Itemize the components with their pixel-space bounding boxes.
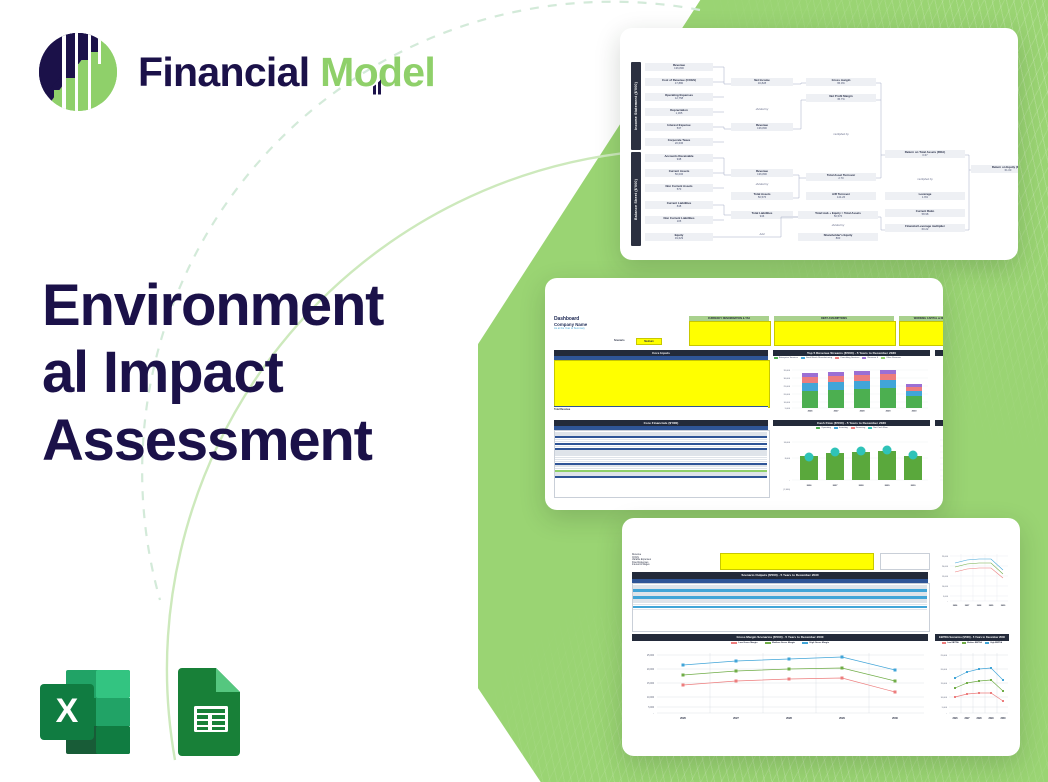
scenario-input-labels: Revenue COGS Variable Expenses Fixed Exp… bbox=[632, 554, 720, 567]
screenshot-scenario-analysis[interactable]: Revenue COGS Variable Expenses Fixed Exp… bbox=[622, 518, 1020, 756]
svg-text:2027: 2027 bbox=[964, 718, 970, 720]
legend-ebitda-scenarios: Low EBITDA Medium EBITDA High EBITDA bbox=[935, 642, 1009, 644]
legend-payback: Payback year Cumulative Cash Generated (… bbox=[937, 427, 943, 429]
svg-text:2028: 2028 bbox=[859, 485, 865, 487]
svg-text:2028: 2028 bbox=[977, 605, 982, 607]
svg-text:2030: 2030 bbox=[1000, 718, 1006, 720]
chart-scenario-top-right[interactable]: 25,00020,00015,000 10,0005,000- bbox=[937, 550, 1010, 608]
svg-text:2027: 2027 bbox=[733, 716, 739, 720]
page-title-line-2: al Impact bbox=[42, 339, 442, 406]
legend-profitability: Revenue EBITDA EBITDA % bbox=[937, 357, 943, 359]
core-financials-rows bbox=[555, 432, 767, 478]
svg-text:2028: 2028 bbox=[976, 718, 982, 720]
brand-logo: Financial Model bbox=[36, 30, 435, 114]
svg-text:2026: 2026 bbox=[807, 485, 813, 487]
page-title-line-1: Environment bbox=[42, 272, 442, 339]
svg-text:30,000: 30,000 bbox=[784, 378, 791, 380]
svg-text:25,000: 25,000 bbox=[942, 556, 949, 558]
section-top-5-revenue-streams: Top 5 Revenue Streams ($'000) - 5 Years … bbox=[773, 350, 930, 356]
currency-assumptions-table[interactable] bbox=[689, 321, 771, 346]
svg-text:2029: 2029 bbox=[839, 716, 845, 720]
svg-text:2030: 2030 bbox=[892, 716, 898, 720]
svg-text:5,000: 5,000 bbox=[648, 707, 654, 709]
logo-o-bar-icon bbox=[372, 61, 384, 78]
page-title: Environment al Impact Assessment bbox=[42, 272, 442, 474]
legend-gross-margin-scenarios: Low Gross Margin Medium Gross Margin Hig… bbox=[632, 642, 928, 644]
svg-text:16,000: 16,000 bbox=[784, 442, 791, 444]
svg-text:-: - bbox=[789, 480, 790, 482]
scenario-sheet: Revenue COGS Variable Expenses Fixed Exp… bbox=[632, 546, 1011, 736]
svg-text:25,000: 25,000 bbox=[784, 386, 791, 388]
core-inputs-total-row: Total Revenue bbox=[554, 406, 768, 416]
dashboard-title: Dashboard Company Name As at the Year of… bbox=[554, 316, 587, 330]
svg-text:2028: 2028 bbox=[786, 716, 792, 720]
chart-profitability[interactable]: 202620272028 20292030 bbox=[936, 364, 943, 412]
svg-text:5,000: 5,000 bbox=[942, 707, 948, 709]
svg-text:-: - bbox=[947, 601, 948, 603]
section-profitability: Profitability ($'000) - 5 Years to Decem… bbox=[935, 350, 943, 356]
chart-top-5-revenue-streams[interactable]: 35,00030,000 25,00020,000 10,0005,000 bbox=[774, 366, 930, 412]
svg-text:2029: 2029 bbox=[988, 718, 994, 720]
ratio-tree: Income Statement ($'000) Balance Sheet (… bbox=[631, 60, 1010, 238]
chart-ebitda-scenarios[interactable]: 25,00020,00015,000 10,0005,000- bbox=[935, 648, 1010, 720]
financial-model-circle-logo-icon bbox=[36, 30, 120, 114]
debt-assumptions-table[interactable] bbox=[774, 321, 896, 346]
dashboard-sheet: Dashboard Company Name As at the Year of… bbox=[554, 316, 935, 484]
svg-text:X: X bbox=[56, 692, 79, 730]
svg-text:20,000: 20,000 bbox=[942, 566, 949, 568]
svg-text:20,000: 20,000 bbox=[941, 669, 948, 671]
working-capital-table[interactable] bbox=[899, 321, 943, 346]
svg-text:2026: 2026 bbox=[680, 716, 686, 720]
file-format-icons: X bbox=[38, 666, 248, 758]
svg-text:-: - bbox=[653, 713, 654, 715]
svg-text:2029: 2029 bbox=[886, 411, 892, 413]
scenario-selector[interactable]: Medium bbox=[636, 338, 662, 345]
brand-wordmark: Financial Model bbox=[138, 52, 435, 93]
svg-text:2028: 2028 bbox=[860, 411, 866, 413]
scenario-active-values[interactable] bbox=[880, 553, 930, 570]
section-cash-flow: Cash Flow ($'000) - 5 Years to December … bbox=[773, 420, 930, 426]
svg-text:2030: 2030 bbox=[1001, 605, 1006, 607]
section-gross-margin-scenarios: Gross Margin Scenarios ($'000) - 5 Years… bbox=[632, 634, 928, 641]
svg-text:2030: 2030 bbox=[911, 485, 917, 487]
svg-text:-: - bbox=[946, 713, 947, 715]
scenario-outputs-rows bbox=[633, 585, 927, 610]
svg-text:(2,000): (2,000) bbox=[783, 489, 790, 491]
svg-text:10,000: 10,000 bbox=[647, 697, 655, 699]
svg-text:2030: 2030 bbox=[912, 411, 918, 413]
scenario-input-values[interactable] bbox=[720, 553, 874, 570]
brand-name-part1: Financial bbox=[138, 49, 309, 95]
chart-investment-payback[interactable]: 72,00057,00051,000 45,00039,00033,000 25… bbox=[936, 434, 943, 496]
legend-revenue-streams: Enterprise Services Small Batch Manufact… bbox=[774, 357, 930, 359]
svg-text:2027: 2027 bbox=[834, 411, 840, 413]
svg-text:20,000: 20,000 bbox=[647, 669, 655, 671]
svg-text:10,000: 10,000 bbox=[784, 402, 791, 404]
svg-text:2026: 2026 bbox=[952, 718, 958, 720]
google-sheets-icon[interactable] bbox=[174, 666, 248, 758]
svg-text:20,000: 20,000 bbox=[784, 394, 791, 396]
screenshot-dashboard[interactable]: Dashboard Company Name As at the Year of… bbox=[545, 278, 943, 510]
svg-text:25,000: 25,000 bbox=[941, 655, 948, 657]
svg-text:2027: 2027 bbox=[965, 605, 970, 607]
svg-text:2026: 2026 bbox=[953, 605, 958, 607]
page-title-line-3: Assessment bbox=[42, 407, 442, 474]
svg-text:35,000: 35,000 bbox=[784, 370, 791, 372]
svg-text:2029: 2029 bbox=[989, 605, 994, 607]
svg-text:10,000: 10,000 bbox=[942, 586, 949, 588]
section-ebitda-scenarios: EBITDA Scenarios ($'000) - 5 Years to De… bbox=[935, 634, 1009, 641]
svg-text:25,000: 25,000 bbox=[647, 655, 655, 657]
svg-text:15,000: 15,000 bbox=[942, 576, 949, 578]
svg-text:5,000: 5,000 bbox=[943, 596, 949, 598]
dashboard-title-line3: As at the Year of Summary bbox=[554, 327, 587, 330]
slide-canvas: Financial Model Environment al Impact As… bbox=[0, 0, 1048, 782]
chart-cash-flow[interactable]: 16,0008,000 -(2,000) bbox=[774, 434, 930, 496]
svg-text:2027: 2027 bbox=[833, 485, 839, 487]
legend-cash-flow: Operating Investing Financing Net Cash F… bbox=[774, 427, 930, 429]
svg-text:15,000: 15,000 bbox=[647, 683, 655, 685]
svg-text:10,000: 10,000 bbox=[941, 697, 948, 699]
core-inputs-values[interactable] bbox=[554, 360, 770, 408]
section-investment-payback: Investment Payback Chart ($'000) - 5 Yea… bbox=[935, 420, 943, 426]
svg-text:15,000: 15,000 bbox=[941, 683, 948, 685]
tree-connectors bbox=[631, 60, 1010, 238]
svg-text:2026: 2026 bbox=[808, 411, 814, 413]
svg-text:8,000: 8,000 bbox=[785, 458, 791, 460]
chart-gross-margin-scenarios[interactable]: 25,00020,00015,000 10,0005,000- bbox=[632, 648, 928, 720]
svg-text:2029: 2029 bbox=[885, 485, 891, 487]
screenshot-financial-ratio-tree[interactable]: Income Statement ($'000) Balance Sheet (… bbox=[620, 28, 1018, 260]
microsoft-excel-icon[interactable]: X bbox=[38, 668, 132, 756]
svg-text:5,000: 5,000 bbox=[785, 408, 791, 410]
scenario-label: Scenario bbox=[614, 339, 625, 342]
